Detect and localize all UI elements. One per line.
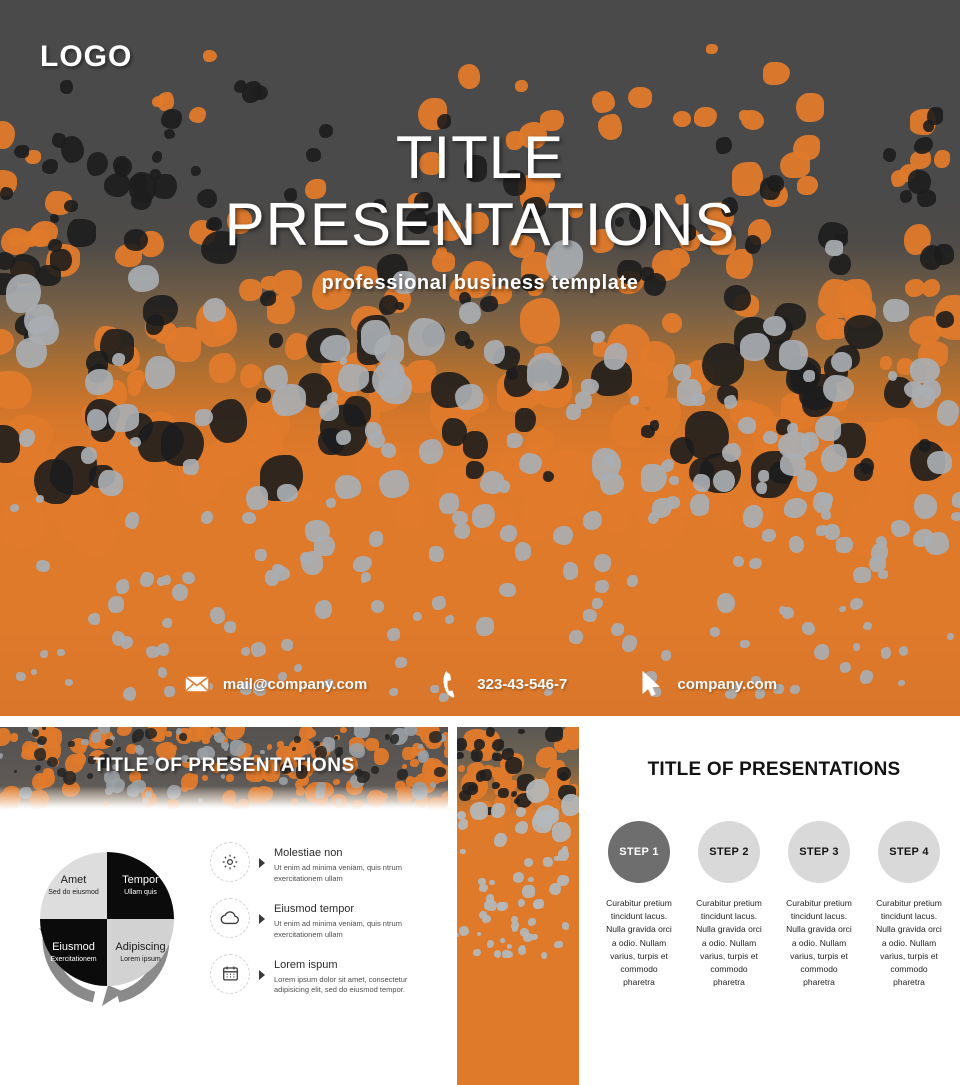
cycle-quadrant-amet[interactable]: Amet Sed do eiusmod: [40, 852, 107, 919]
logo-text: LOGO: [40, 40, 132, 74]
quadrant-subtitle: Ullam quis: [124, 889, 157, 897]
list-item[interactable]: Eiusmod tempor Ut enim ad minima veniam,…: [210, 898, 434, 941]
quadrant-title: Eiusmod: [52, 941, 95, 954]
title-line-1: TITLE: [0, 124, 960, 191]
list-item-title: Molestiae non: [274, 847, 343, 859]
cycle-diagram: Amet Sed do eiusmod Tempor Ullam quis Ei…: [18, 840, 196, 1030]
title-line-2: PRESENTATIONS: [0, 191, 960, 258]
slide-cycle-diagram[interactable]: TITLE OF PRESENTATIONS: [0, 727, 448, 1085]
contact-website[interactable]: company.com: [637, 670, 777, 698]
cloud-icon: [210, 898, 250, 938]
list-item-desc: Ut enim ad minima veniam, quis ntrum exe…: [274, 919, 434, 941]
cycle-quadrants: Amet Sed do eiusmod Tempor Ullam quis Ei…: [40, 852, 174, 986]
confetti-decoration: [0, 0, 960, 716]
step-badge: STEP 3: [788, 821, 850, 883]
list-item-text: Lorem ispum Lorem ipsum dolor sit amet, …: [274, 954, 434, 997]
step-description: Curabitur pretium tincidunt lacus. Nulla…: [694, 897, 764, 989]
slide-divider-strip: [457, 727, 579, 1085]
hero-slide: LOGO TITLE PRESENTATIONS professional bu…: [0, 0, 960, 716]
list-item[interactable]: Molestiae non Ut enim ad minima veniam, …: [210, 842, 434, 885]
list-item[interactable]: Lorem ispum Lorem ipsum dolor sit amet, …: [210, 954, 434, 997]
cursor-icon: [637, 670, 665, 698]
cycle-quadrant-tempor[interactable]: Tempor Ullam quis: [107, 852, 174, 919]
presentation-template-page: LOGO TITLE PRESENTATIONS professional bu…: [0, 0, 960, 1085]
contact-website-text: company.com: [677, 676, 777, 693]
step-description: Curabitur pretium tincidunt lacus. Nulla…: [784, 897, 854, 989]
contact-phone[interactable]: 323-43-546-7: [437, 670, 567, 698]
contact-email-text: mail@company.com: [223, 676, 367, 693]
slide-b-title: TITLE OF PRESENTATIONS: [604, 759, 944, 781]
hero-text-block: TITLE PRESENTATIONS professional busines…: [0, 124, 960, 295]
step-description: Curabitur pretium tincidunt lacus. Nulla…: [874, 897, 944, 989]
chevron-right-icon: [258, 967, 266, 985]
calendar-icon: [210, 954, 250, 994]
slide-a-header-band: TITLE OF PRESENTATIONS: [0, 727, 448, 812]
step-description: Curabitur pretium tincidunt lacus. Nulla…: [604, 897, 674, 989]
envelope-icon: [183, 670, 211, 698]
step-item-2[interactable]: STEP 2 Curabitur pretium tincidunt lacus…: [694, 821, 764, 989]
quadrant-title: Adipiscing: [115, 941, 165, 954]
list-item-text: Molestiae non Ut enim ad minima veniam, …: [274, 842, 434, 885]
page-title: TITLE PRESENTATIONS: [0, 124, 960, 258]
phone-icon: [437, 670, 465, 698]
steps-list: STEP 1 Curabitur pretium tincidunt lacus…: [604, 821, 944, 989]
quadrant-subtitle: Exercitationem: [50, 956, 96, 964]
cycle-quadrant-adipiscing[interactable]: Adipiscing Lorem ipsum: [107, 919, 174, 986]
cycle-quadrant-eiusmod[interactable]: Eiusmod Exercitationem: [40, 919, 107, 986]
quadrant-subtitle: Sed do eiusmod: [48, 889, 99, 897]
confetti-decoration: [457, 727, 579, 1085]
bullet-list: Molestiae non Ut enim ad minima veniam, …: [210, 840, 434, 1030]
quadrant-title: Amet: [61, 874, 87, 887]
list-item-text: Eiusmod tempor Ut enim ad minima veniam,…: [274, 898, 434, 941]
gear-icon: [210, 842, 250, 882]
step-item-1[interactable]: STEP 1 Curabitur pretium tincidunt lacus…: [604, 821, 674, 989]
contact-phone-text: 323-43-546-7: [477, 676, 567, 693]
slide-a-title: TITLE OF PRESENTATIONS: [0, 755, 448, 777]
step-item-4[interactable]: STEP 4 Curabitur pretium tincidunt lacus…: [874, 821, 944, 989]
slide-steps[interactable]: TITLE OF PRESENTATIONS STEP 1 Curabitur …: [588, 727, 960, 1085]
list-item-desc: Ut enim ad minima veniam, quis ntrum exe…: [274, 863, 434, 885]
chevron-right-icon: [258, 911, 266, 929]
step-badge: STEP 1: [608, 821, 670, 883]
chevron-right-icon: [258, 855, 266, 873]
hero-subtitle: professional business template: [0, 272, 960, 295]
list-item-title: Eiusmod tempor: [274, 903, 354, 915]
slides-row: TITLE OF PRESENTATIONS: [0, 727, 960, 1085]
quadrant-subtitle: Lorem ipsum: [120, 956, 160, 964]
step-badge: STEP 2: [698, 821, 760, 883]
list-item-desc: Lorem ipsum dolor sit amet, consectetur …: [274, 975, 434, 997]
list-item-title: Lorem ispum: [274, 959, 338, 971]
step-item-3[interactable]: STEP 3 Curabitur pretium tincidunt lacus…: [784, 821, 854, 989]
contact-bar: mail@company.com 323-43-546-7 company.co…: [0, 670, 960, 698]
slide-a-body: Amet Sed do eiusmod Tempor Ullam quis Ei…: [0, 812, 448, 1030]
quadrant-title: Tempor: [122, 874, 159, 887]
step-badge: STEP 4: [878, 821, 940, 883]
contact-email[interactable]: mail@company.com: [183, 670, 367, 698]
